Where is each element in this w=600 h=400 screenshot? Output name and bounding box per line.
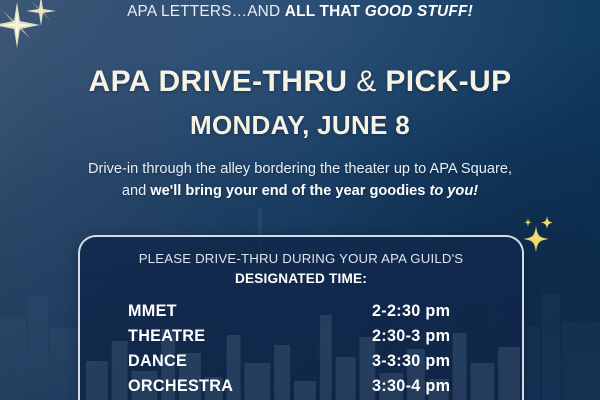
headline-ampersand: &	[356, 65, 385, 98]
flyer-canvas: APA LETTERS…AND ALL THAT GOOD STUFF! APA…	[0, 0, 600, 400]
body-copy-line2: and we'll bring your end of the year goo…	[0, 180, 600, 202]
schedule-time-value: 2:30-3 pm	[372, 327, 450, 346]
body-copy-line2-lead: and	[122, 183, 150, 199]
page-title: APA DRIVE-THRU & PICK-UP	[0, 67, 600, 98]
schedule-guild-label: ORCHESTRA	[128, 377, 372, 396]
panel-heading-emphasis: DESIGNATED TIME:	[235, 271, 367, 286]
kicker-lead: APA LETTERS…AND	[127, 3, 285, 20]
schedule-time-value: 3:30-4 pm	[372, 377, 450, 396]
schedule-guild-label: THEATRE	[128, 327, 372, 346]
headline-part1: APA DRIVE-THRU	[89, 65, 357, 98]
panel-inner: PLEASE DRIVE-THRU DURING YOUR APA GUILD'…	[80, 237, 522, 400]
body-copy-line1: Drive-in through the alley bordering the…	[0, 158, 600, 180]
flyer-content: APA LETTERS…AND ALL THAT GOOD STUFF! APA…	[0, 0, 600, 400]
kicker-bold-italic: GOOD STUFF!	[365, 3, 473, 20]
body-copy-line2-emphasis: to you!	[429, 183, 478, 199]
kicker-bold: ALL THAT	[285, 3, 365, 20]
kicker-line: APA LETTERS…AND ALL THAT GOOD STUFF!	[0, 3, 600, 21]
schedule-row: ORCHESTRA3:30-4 pm	[128, 377, 522, 400]
body-copy-line2-bold: we'll bring your end of the year goodies	[150, 183, 429, 199]
schedule-panel: PLEASE DRIVE-THRU DURING YOUR APA GUILD'…	[78, 235, 524, 400]
panel-heading-line1: PLEASE DRIVE-THRU DURING YOUR APA GUILD'…	[80, 249, 522, 269]
panel-heading: PLEASE DRIVE-THRU DURING YOUR APA GUILD'…	[80, 249, 522, 289]
schedule-row: MMET2-2:30 pm	[128, 302, 522, 327]
schedule-guild-label: DANCE	[128, 352, 372, 371]
schedule-list: MMET2-2:30 pmTHEATRE2:30-3 pmDANCE3-3:30…	[80, 302, 522, 400]
schedule-row: DANCE3-3:30 pm	[128, 352, 522, 377]
body-copy: Drive-in through the alley bordering the…	[0, 158, 600, 202]
schedule-guild-label: MMET	[128, 302, 372, 321]
schedule-row: THEATRE2:30-3 pm	[128, 327, 522, 352]
headline-part2: PICK-UP	[385, 65, 511, 98]
panel-heading-line2: DESIGNATED TIME:	[80, 269, 522, 289]
schedule-time-value: 2-2:30 pm	[372, 302, 450, 321]
event-date: MONDAY, JUNE 8	[0, 110, 600, 141]
schedule-time-value: 3-3:30 pm	[372, 352, 450, 371]
